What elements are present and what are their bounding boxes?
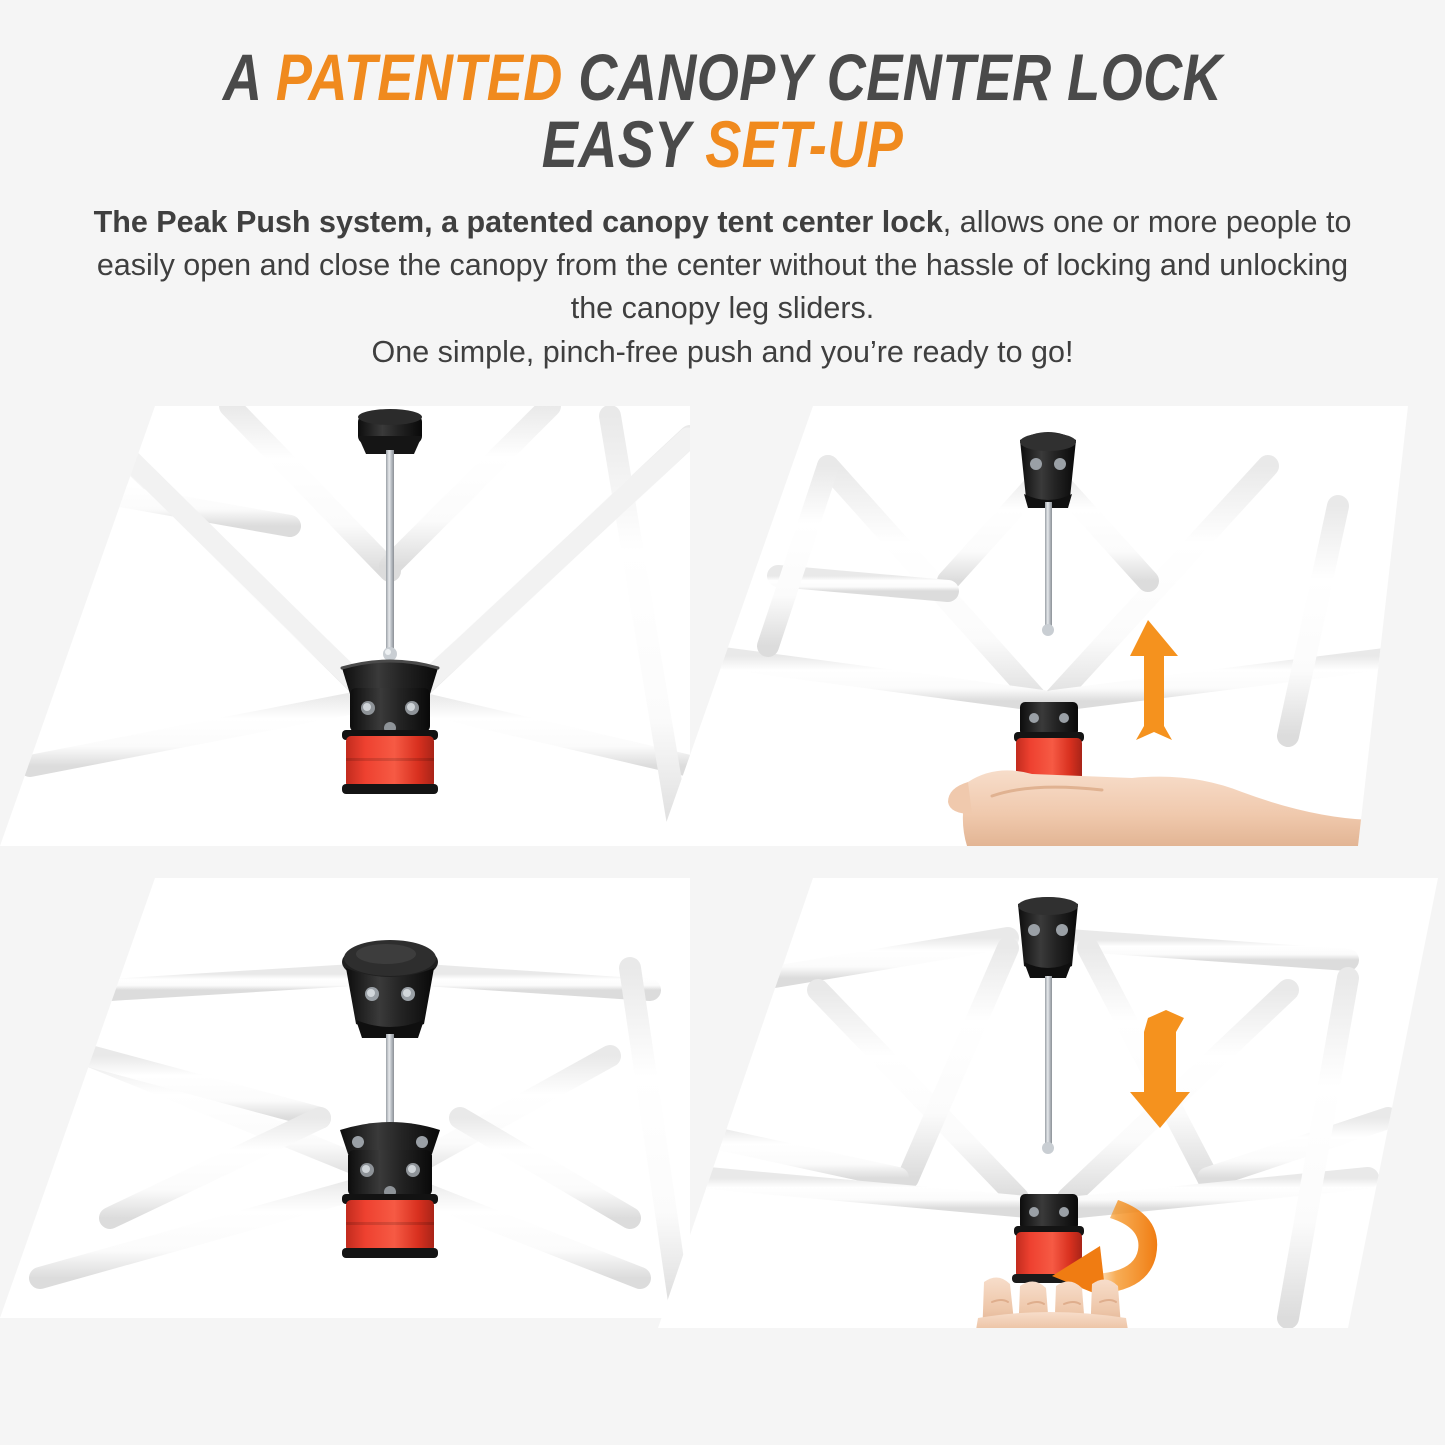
paragraph-line-4: One simple, pinch-free push and you’re r… xyxy=(372,335,1074,369)
paragraph-line-1: The Peak Push system, a patented canopy … xyxy=(94,205,1218,239)
heading-seg-canopy-center-lock: CANOPY CENTER LOCK xyxy=(563,40,1222,114)
panel-push-up-with-open-palm xyxy=(648,406,1445,858)
description-paragraph: The Peak Push system, a patented canopy … xyxy=(78,201,1368,374)
top-hub-icon xyxy=(342,940,438,1038)
heading-line-1: A PATENTED CANOPY CENTER LOCK xyxy=(130,44,1315,111)
panel-2-illustration xyxy=(648,406,1445,858)
push-rod xyxy=(1045,502,1052,626)
paragraph-bold-lead: The Peak Push system, a patented canopy … xyxy=(94,205,943,239)
heading-seg-patented: PATENTED xyxy=(276,40,563,114)
push-rod xyxy=(386,450,394,650)
heading-line-2: EASY SET-UP xyxy=(130,111,1315,178)
panel-frame-locked-closeup xyxy=(0,878,690,1348)
heading-seg-setup: SET-UP xyxy=(705,107,903,181)
panel-4-illustration xyxy=(648,878,1445,1348)
top-hub-icon xyxy=(1020,432,1076,508)
panel-frame-collapsed-closeup xyxy=(0,406,690,858)
center-lock-hub xyxy=(340,1122,440,1258)
heading-seg-a: A xyxy=(223,40,276,114)
top-hub-icon xyxy=(1018,897,1078,978)
panel-pull-down-and-twist xyxy=(648,878,1445,1348)
panel-3-illustration xyxy=(0,878,690,1348)
center-lock-hub xyxy=(342,660,438,794)
panel-1-illustration xyxy=(0,406,690,858)
push-rod xyxy=(386,1034,394,1130)
paragraph-rest-line-1: , allows one or more xyxy=(943,205,1218,239)
page-title: A PATENTED CANOPY CENTER LOCK EASY SET-U… xyxy=(0,0,1445,179)
heading-seg-easy: EASY xyxy=(542,107,705,181)
push-rod xyxy=(1045,976,1052,1144)
top-hub-icon xyxy=(358,409,422,454)
panel-grid xyxy=(0,398,1445,1445)
